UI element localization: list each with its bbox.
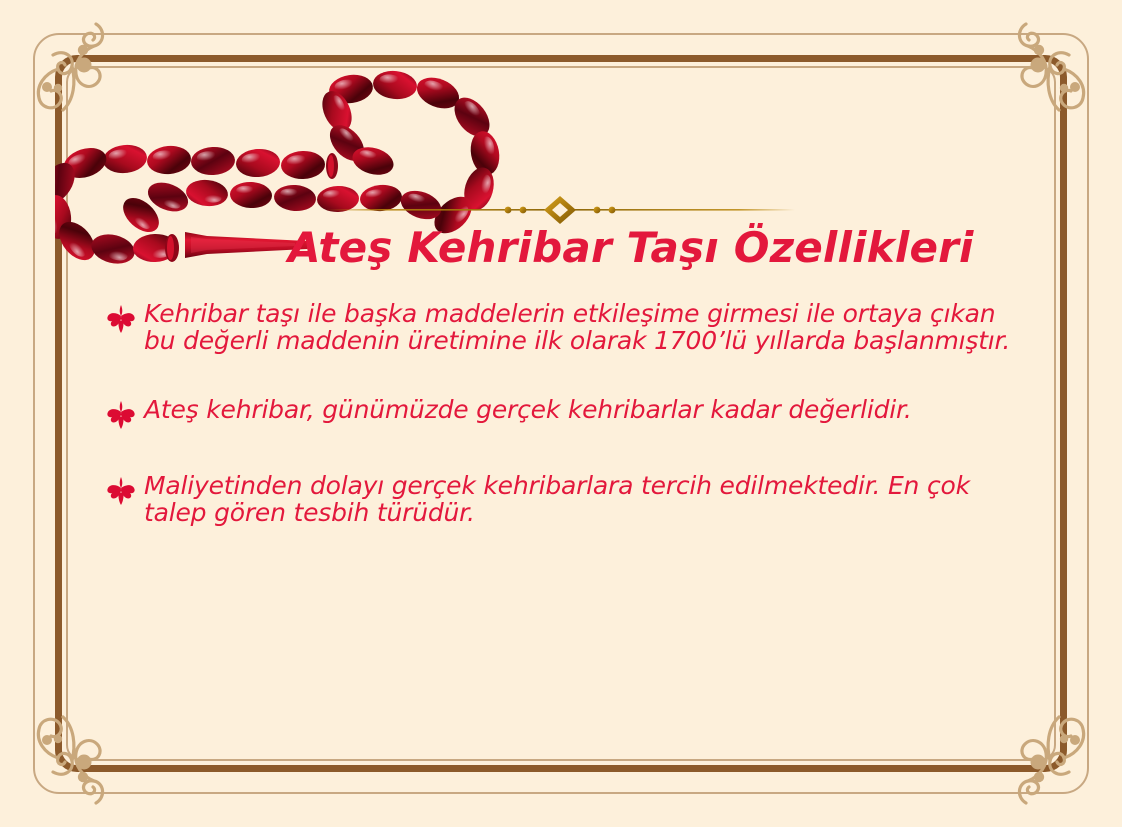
list-item: Maliyetinden dolayı gerçek kehribarlara … bbox=[104, 472, 1034, 526]
list-item: Ateş kehribar, günümüzde gerçek kehribar… bbox=[104, 396, 1034, 434]
list-spacer bbox=[104, 382, 1034, 396]
corner-ornament-bottom-left bbox=[8, 669, 158, 819]
corner-ornament-top-left bbox=[8, 8, 158, 158]
fleur-de-lis-icon bbox=[104, 400, 144, 434]
feature-list: Kehribar taşı ile başka maddelerin etkil… bbox=[104, 300, 1034, 554]
list-item-text: Maliyetinden dolayı gerçek kehribarlara … bbox=[144, 472, 1034, 526]
gold-diamond-divider bbox=[325, 196, 795, 224]
fleur-de-lis-icon bbox=[104, 476, 144, 510]
list-item-text: Ateş kehribar, günümüzde gerçek kehribar… bbox=[144, 396, 1034, 423]
list-item: Kehribar taşı ile başka maddelerin etkil… bbox=[104, 300, 1034, 354]
corner-ornament-bottom-right bbox=[964, 669, 1114, 819]
corner-ornament-top-right bbox=[964, 8, 1114, 158]
infographic-card: Ateş Kehribar Taşı Özellikleri Kehribar … bbox=[0, 0, 1122, 827]
page-title: Ateş Kehribar Taşı Özellikleri bbox=[288, 222, 988, 274]
fleur-de-lis-icon bbox=[104, 304, 144, 338]
list-item-text: Kehribar taşı ile başka maddelerin etkil… bbox=[144, 300, 1034, 354]
